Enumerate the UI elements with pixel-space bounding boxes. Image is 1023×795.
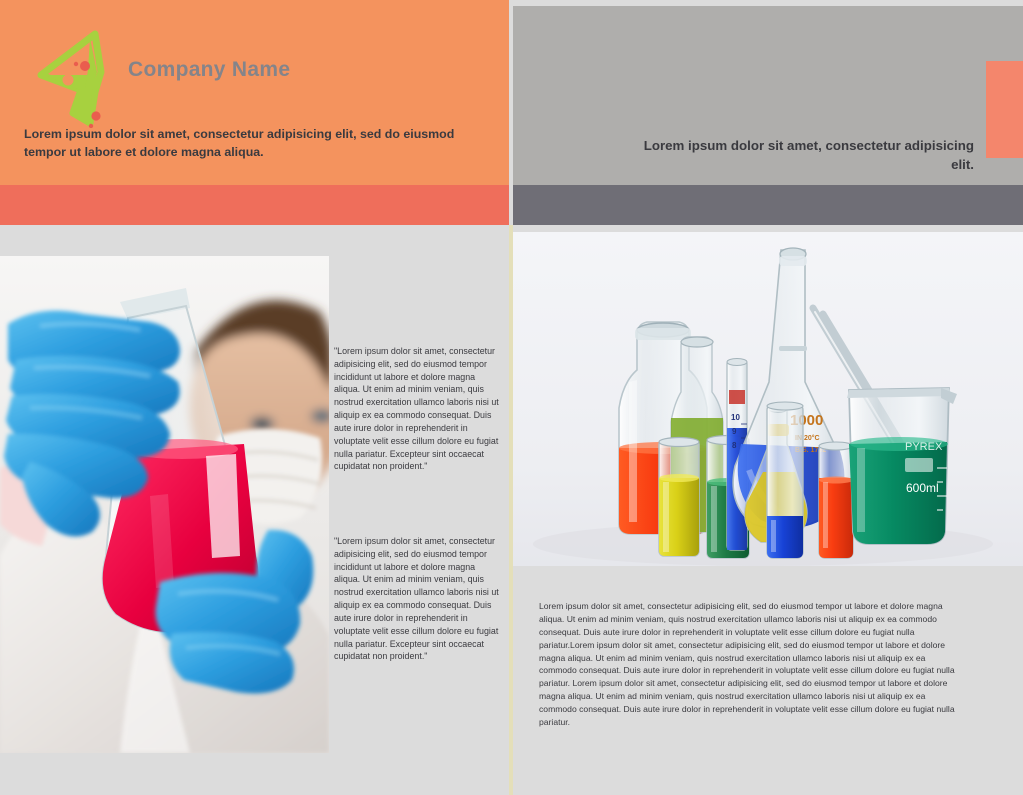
left-tagline: Lorem ipsum dolor sit amet, consectetur … bbox=[24, 126, 484, 162]
flask-funnel-logo-icon bbox=[33, 28, 133, 128]
quote-block-2: "Lorem ipsum dolor sit amet, consectetur… bbox=[334, 535, 502, 663]
quote-block-1: "Lorem ipsum dolor sit amet, consectetur… bbox=[334, 345, 502, 473]
svg-text:PYREX: PYREX bbox=[905, 441, 943, 453]
svg-text:10: 10 bbox=[731, 413, 740, 422]
svg-text:600ml: 600ml bbox=[906, 481, 939, 495]
right-accent-rectangle bbox=[986, 61, 1023, 158]
svg-text:8: 8 bbox=[732, 441, 737, 450]
svg-text:9: 9 bbox=[732, 427, 737, 436]
right-page: Lorem ipsum dolor sit amet, consectetur … bbox=[513, 0, 1023, 795]
right-accent-bar-dark bbox=[513, 185, 1023, 225]
brochure-spread: Company Name Lorem ipsum dolor sit amet,… bbox=[0, 0, 1023, 795]
left-header-band: Company Name Lorem ipsum dolor sit amet,… bbox=[0, 0, 509, 185]
left-page: Company Name Lorem ipsum dolor sit amet,… bbox=[0, 0, 509, 795]
scientist-holding-flask-photo bbox=[0, 256, 329, 753]
left-accent-bar-red bbox=[0, 185, 509, 225]
right-body-copy: Lorem ipsum dolor sit amet, consectetur … bbox=[539, 600, 964, 729]
laboratory-glassware-photo: 10 9 8 bbox=[513, 232, 1023, 566]
company-name-title: Company Name bbox=[128, 58, 290, 82]
right-header-band: Lorem ipsum dolor sit amet, consectetur … bbox=[513, 6, 1023, 185]
right-headline: Lorem ipsum dolor sit amet, consectetur … bbox=[634, 136, 974, 175]
